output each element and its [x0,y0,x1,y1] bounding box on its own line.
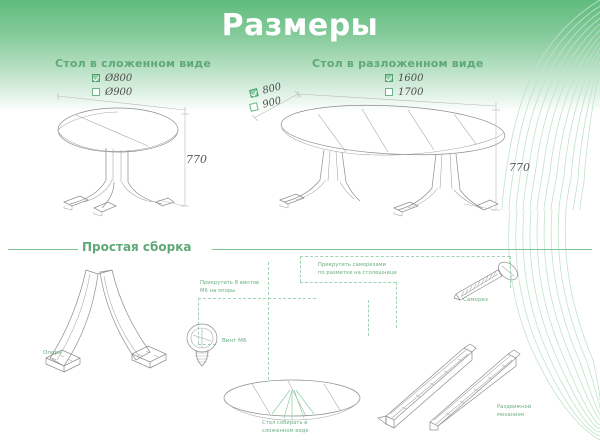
checkbox-checked-icon[interactable] [385,74,393,82]
assembly-section-title: Простая сборка [82,240,192,254]
note-attach-self-tapping: Прикрутить саморезами по разметке на сто… [318,262,397,277]
drawing-support-leg [40,262,170,392]
note-attach-screws: Прикрутить 8 винтов М6 на опоры [200,280,259,295]
dimension-height-unfolded: 770 [509,161,530,174]
leader-line-screws-vertical [268,262,269,380]
option-value: 1600 [398,73,423,84]
note-assemble-folded: Стол собирать в сложенном виде [262,420,309,435]
section-title-folded: Стол в сложенном виде [55,57,211,70]
drawing-bolt-m6 [182,322,228,370]
leader-line-selftap-bottom [300,282,396,283]
dimension-height-folded: 770 [186,153,207,166]
section-title-unfolded: Стол в разложенном виде [312,57,484,70]
option-value: Ø800 [105,73,132,84]
divider-line-right [212,249,592,250]
leader-line-selftap-left [300,256,301,282]
leader-line-screws-horizontal [198,298,316,299]
leader-line-mechanism [368,300,369,336]
note-sliding-mechanism: Раздвижной механизм [497,404,531,419]
leader-line-selftap-top [300,256,510,257]
option-row[interactable]: Ø800 [92,72,132,84]
part-label-support: Опора [43,350,61,356]
part-label-bolt: Винт М6 [222,338,247,344]
instruction-sheet-page: Размеры Стол в сложенном виде Стол в раз… [0,0,600,440]
drawing-table-unfolded [250,88,540,220]
drawing-table-folded [40,88,210,218]
part-label-self-tapping-screw: Саморез [463,297,488,303]
leader-line-selftap-drop [396,282,397,328]
checkbox-checked-icon[interactable] [92,74,100,82]
option-row[interactable]: 1600 [385,72,423,84]
divider-line-left [8,249,78,250]
page-title: Размеры [0,8,600,43]
